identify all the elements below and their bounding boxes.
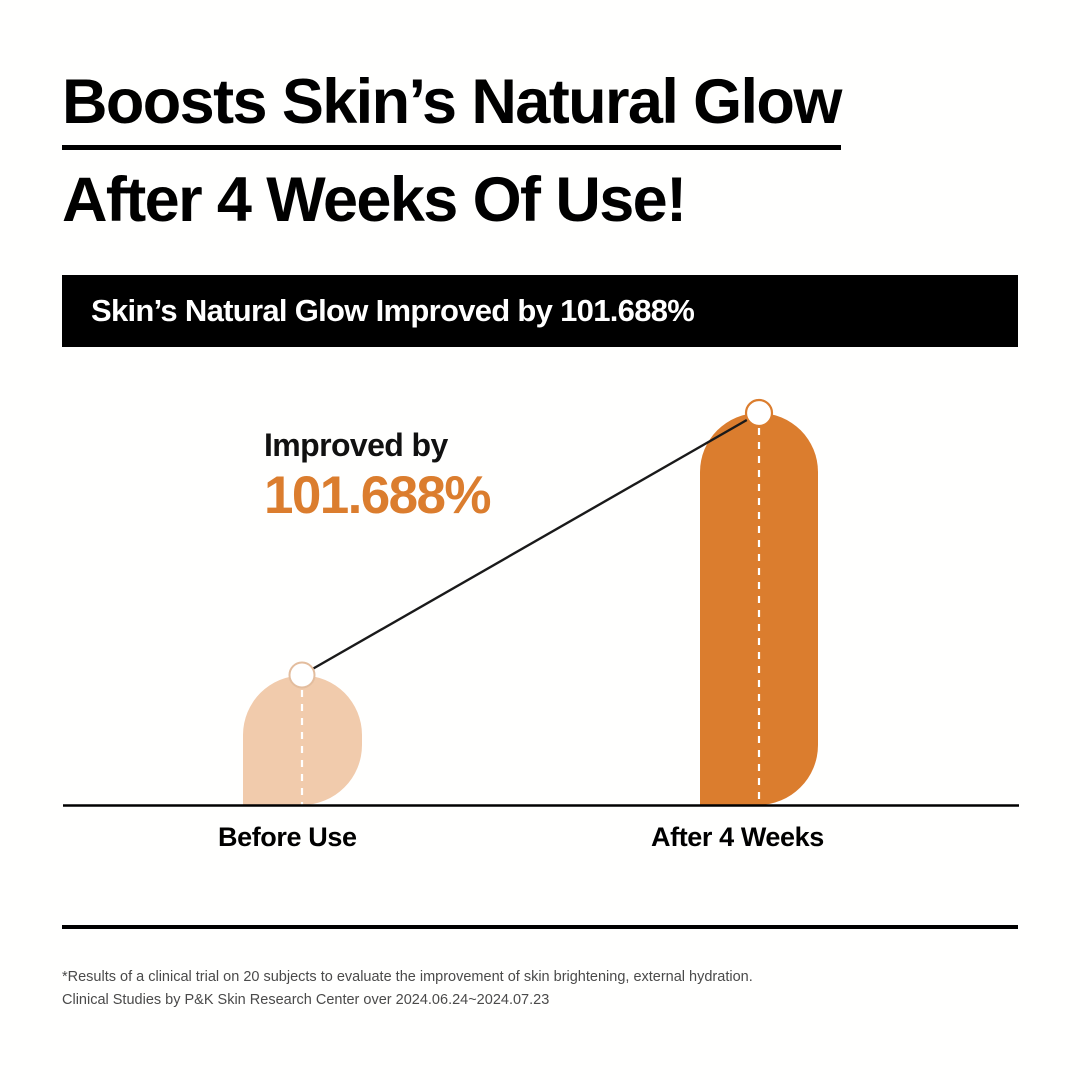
footnote-line-2: Clinical Studies by P&K Skin Research Ce…	[62, 989, 1002, 1012]
footnote: *Results of a clinical trial on 20 subje…	[62, 966, 1002, 1013]
headline-line-1-wrap: Boosts Skin’s Natural Glow	[62, 62, 1002, 150]
marker-before-use	[290, 663, 315, 688]
bar-before-use	[243, 676, 362, 806]
result-banner-text: Skin’s Natural Glow Improved by 101.688%	[62, 293, 694, 329]
headline-line-1: Boosts Skin’s Natural Glow	[62, 62, 841, 150]
improvement-callout-label: Improved by	[264, 428, 490, 463]
result-banner: Skin’s Natural Glow Improved by 101.688%	[62, 275, 1018, 347]
page-title: Boosts Skin’s Natural Glow After 4 Weeks…	[62, 62, 1002, 240]
improvement-callout: Improved by 101.688%	[264, 428, 490, 524]
footnote-line-1: *Results of a clinical trial on 20 subje…	[62, 966, 1002, 989]
headline-line-2: After 4 Weeks Of Use!	[62, 160, 1002, 241]
bar-after-4-weeks	[700, 413, 818, 805]
axis-label-after-emphasis: 4 Weeks	[719, 822, 824, 852]
improvement-callout-value: 101.688%	[264, 468, 490, 524]
infographic-page: Boosts Skin’s Natural Glow After 4 Weeks…	[0, 0, 1080, 1080]
axis-label-after-prefix: After	[651, 822, 719, 852]
axis-label-before-use: Before Use	[218, 822, 357, 853]
trend-connector-line	[302, 413, 759, 675]
marker-after-4-weeks	[746, 400, 772, 426]
axis-label-after-4-weeks: After 4 Weeks	[651, 822, 824, 853]
footer-divider	[62, 925, 1018, 929]
